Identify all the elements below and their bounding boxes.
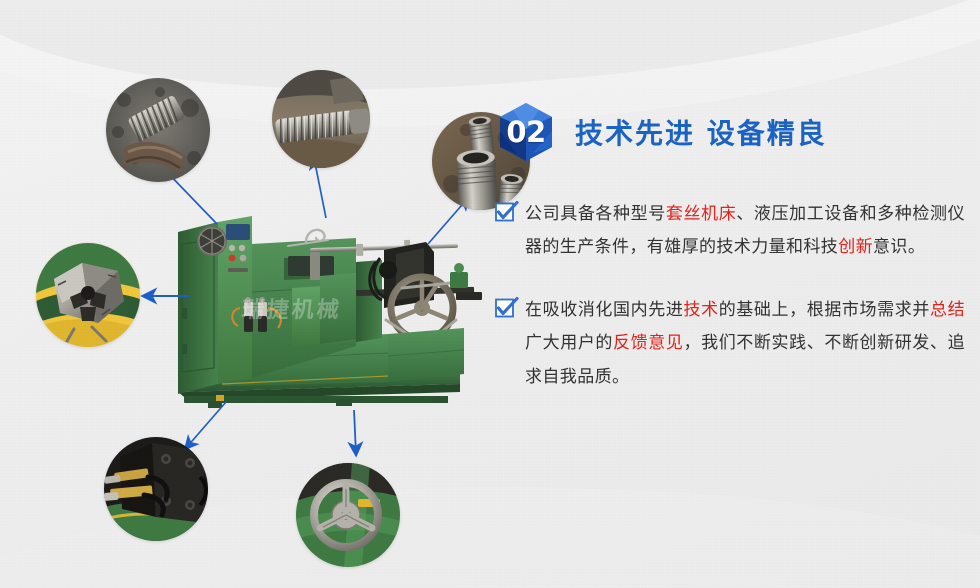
detail-circle-threaded-rod (106, 78, 210, 182)
die-head-photo (36, 243, 140, 347)
bullet-text: 在吸收消化国内先进技术的基础上，根据市场需求并总结广大用户的反馈意见，我们不断实… (525, 294, 965, 393)
bullet-text: 公司具备各种型号套丝机床、液压加工设备和多种检测仪器的生产条件，有雄厚的技术力量… (525, 198, 965, 264)
detail-circle-die-head (36, 243, 140, 347)
section-header: 02 技术先进 设备精良 (495, 96, 965, 168)
thread-closeup-photo (272, 70, 370, 168)
highlighted-term: 创新 (838, 237, 873, 257)
promo-banner: 瑞捷机械 (0, 0, 980, 588)
bullet-item: 在吸收消化国内先进技术的基础上，根据市场需求并总结广大用户的反馈意见，我们不断实… (495, 294, 965, 393)
arrow-to-handwheel (340, 408, 370, 462)
section-title: 技术先进 设备精良 (575, 112, 827, 152)
threaded-rod-photo (106, 78, 210, 182)
photo-watermark: 瑞捷机械 (240, 292, 343, 324)
detail-circle-handwheel (296, 463, 400, 567)
checkbox-checked-icon (495, 298, 515, 318)
body-text-run: 意识。 (873, 237, 925, 257)
content-panel: 02 技术先进 设备精良 公司具备各种型号套丝机床、液压加工设备和多种检测仪器的… (495, 96, 965, 424)
handwheel-photo (296, 463, 400, 567)
valve-block-photo (104, 437, 208, 541)
bullet-item: 公司具备各种型号套丝机床、液压加工设备和多种检测仪器的生产条件，有雄厚的技术力量… (495, 198, 965, 264)
section-number-text: 02 (495, 101, 557, 163)
highlighted-term: 套丝机床 (666, 204, 736, 224)
bullet-list: 公司具备各种型号套丝机床、液压加工设备和多种检测仪器的生产条件，有雄厚的技术力量… (495, 198, 965, 394)
body-text-run: 在吸收消化国内先进 (525, 300, 683, 320)
highlighted-term: 技术 (683, 300, 718, 320)
body-text-run: 的基础上，根据市场需求并 (719, 300, 930, 320)
checkbox-checked-icon (495, 202, 515, 222)
highlighted-term: 反馈意见 (613, 333, 683, 353)
body-text-run: 公司具备各种型号 (525, 204, 666, 224)
detail-circle-thread-closeup (272, 70, 370, 168)
detail-circle-valve-block (104, 437, 208, 541)
product-photo: 瑞捷机械 (160, 196, 490, 412)
body-text-run: 广大用户的 (525, 333, 613, 353)
section-number-badge: 02 (495, 101, 557, 163)
highlighted-term: 总结 (930, 300, 965, 320)
